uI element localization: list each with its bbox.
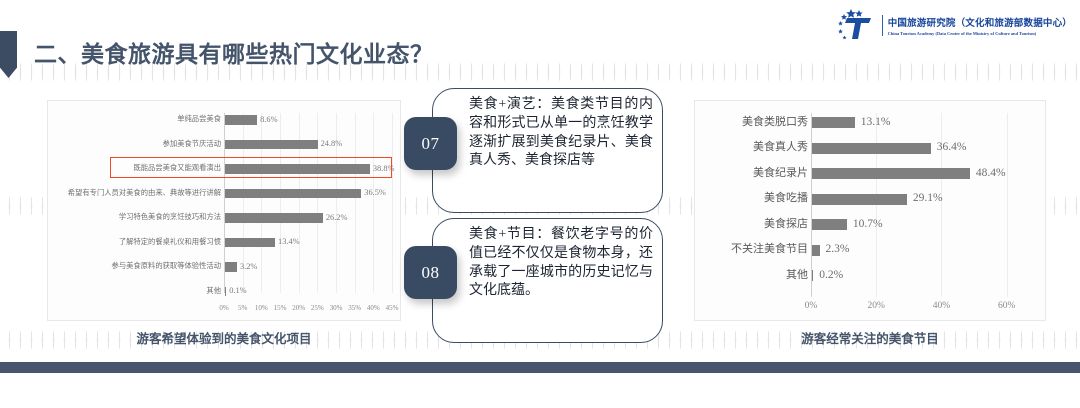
callout-card-08[interactable]: 美食+节目：餐饮老字号的价值已经不仅仅是食物本身，还承载了一座城市的历史记忆与文…	[432, 218, 663, 343]
bar-value-label: 2.3%	[826, 243, 850, 255]
bar-value-label: 36.4%	[937, 141, 967, 153]
bar-value-label: 13.1%	[861, 116, 891, 128]
left-chart-caption: 游客希望体验到的美食文化项目	[47, 328, 401, 347]
chart-panel-left: 单纯品尝美食8.6%参加美食节庆活动24.8%既能品尝美食又能观看演出38.8%…	[47, 100, 401, 321]
callout-08-text: 美食+节目：餐饮老字号的价值已经不仅仅是食物本身，还承载了一座城市的历史记忆与文…	[469, 226, 653, 301]
brand-name-cn: 中国旅游研究院（文化和旅游部数据中心）	[888, 15, 1072, 29]
bar-value-label: 8.6%	[260, 115, 277, 124]
bar	[812, 245, 820, 256]
callout-07-text: 美食+演艺：美食类节目的内容和形式已从单一的烹饪教学逐渐扩展到美食纪录片、美食真…	[469, 96, 653, 171]
bar	[812, 168, 970, 179]
bar-category-label: 既能品尝美食又能观看演出	[50, 164, 221, 173]
bar-value-label: 13.4%	[278, 237, 300, 246]
brand-name-en: China Tourism Academy (Data Center of th…	[888, 31, 1072, 36]
bar-value-label: 38.8%	[373, 164, 395, 173]
bar	[812, 117, 855, 128]
title-marker-shape	[0, 31, 17, 78]
bar-category-label: 美食真人秀	[695, 142, 808, 153]
callout-card-07[interactable]: 美食+演艺：美食类节目的内容和形式已从单一的烹饪教学逐渐扩展到美食纪录片、美食真…	[432, 88, 663, 213]
gridline	[392, 113, 393, 293]
bar	[812, 270, 813, 281]
axis-tick-label: 0%	[797, 301, 825, 311]
gridline	[876, 113, 877, 297]
slide-canvas: 二、美食旅游具有哪些热门文化业态？ 中国旅游研究院（文化和旅游部数据中心） Ch…	[0, 0, 1080, 408]
brand-text-block: 中国旅游研究院（文化和旅游部数据中心） China Tourism Academ…	[882, 15, 1072, 36]
bar	[225, 164, 370, 174]
left-chart-plot: 单纯品尝美食8.6%参加美食节庆活动24.8%既能品尝美食又能观看演出38.8%…	[48, 101, 400, 320]
bar-value-label: 26.2%	[326, 213, 348, 222]
bar-value-label: 10.7%	[853, 218, 883, 230]
bar-value-label: 0.1%	[229, 286, 246, 295]
gridline	[1007, 113, 1008, 297]
axis-tick-label: 60%	[993, 301, 1021, 311]
bar-category-label: 参加美食节庆活动	[50, 140, 221, 149]
bar	[812, 194, 907, 205]
bar-value-label: 36.5%	[364, 188, 386, 197]
chart-panel-right: 美食类脱口秀13.1%美食真人秀36.4%美食纪录片48.4%美食吃播29.1%…	[694, 100, 1046, 321]
bar-value-label: 29.1%	[913, 192, 943, 204]
gridline	[373, 113, 374, 293]
bar-value-label: 0.2%	[819, 269, 843, 281]
bar	[225, 262, 237, 272]
gridline	[355, 113, 356, 293]
bar-category-label: 美食探店	[695, 219, 808, 230]
bar-value-label: 3.2%	[240, 262, 257, 271]
bar	[225, 213, 323, 223]
right-chart-plot: 美食类脱口秀13.1%美食真人秀36.4%美食纪录片48.4%美食吃播29.1%…	[695, 101, 1045, 320]
bar	[225, 140, 318, 150]
footer-accent-bar	[0, 362, 1080, 373]
bar-category-label: 单纯品尝美食	[50, 115, 221, 124]
brand-logo: 中国旅游研究院（文化和旅游部数据中心） China Tourism Academ…	[835, 8, 1072, 42]
cta-star-t-logo-icon	[835, 8, 877, 42]
bar	[812, 219, 847, 230]
callout-08-number-badge: 08	[404, 246, 457, 299]
bar	[225, 287, 226, 297]
bar-category-label: 其他	[695, 270, 808, 281]
bar	[812, 143, 931, 154]
bar-category-label: 希望有专门人员对美食的由来、典故等进行讲解	[50, 189, 221, 198]
bar	[225, 238, 275, 248]
bar-value-label: 48.4%	[976, 167, 1006, 179]
bar-category-label: 其他	[50, 287, 221, 296]
bar-category-label: 参与美食原料的获取等体验性活动	[50, 262, 221, 271]
axis-tick-label: 40%	[927, 301, 955, 311]
bar	[225, 115, 257, 125]
bar-category-label: 美食类脱口秀	[695, 117, 808, 128]
callout-07-number-badge: 07	[404, 117, 457, 170]
axis-tick-label: 20%	[862, 301, 890, 311]
bar-value-label: 24.8%	[321, 139, 343, 148]
bar	[225, 189, 361, 199]
axis-tick-label: 45%	[378, 304, 406, 312]
bar-category-label: 美食纪录片	[695, 168, 808, 179]
bar-category-label: 了解特定的餐桌礼仪和用餐习惯	[50, 238, 221, 247]
bar-category-label: 不关注美食节目	[695, 244, 808, 255]
page-title: 二、美食旅游具有哪些热门文化业态？	[34, 35, 434, 69]
bar-category-label: 学习特色美食的烹饪技巧和方法	[50, 213, 221, 222]
bar-category-label: 美食吃播	[695, 193, 808, 204]
right-chart-caption: 游客经常关注的美食节目	[694, 328, 1046, 347]
